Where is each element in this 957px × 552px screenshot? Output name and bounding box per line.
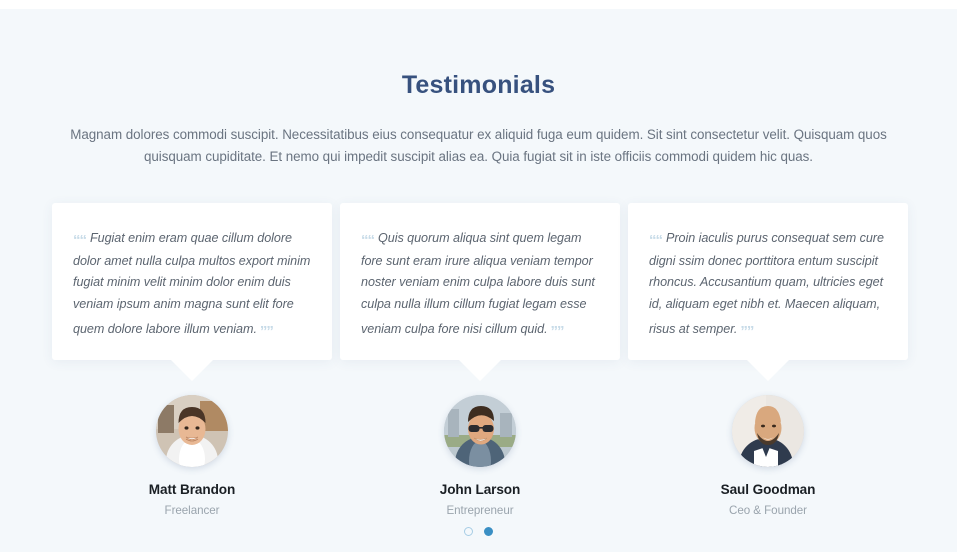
- quote-close-icon: ””: [551, 323, 564, 340]
- pagination-dot-1[interactable]: [464, 527, 473, 536]
- quote-open-icon: ““: [73, 232, 86, 249]
- quote-close-icon: ””: [740, 323, 753, 340]
- avatar: [732, 395, 804, 467]
- page-root: Testimonials Magnam dolores commodi susc…: [0, 0, 957, 552]
- testimonial-quote: ““Quis quorum aliqua sint quem legam for…: [361, 225, 599, 342]
- testimonial-item: ““Quis quorum aliqua sint quem legam for…: [340, 203, 620, 517]
- carousel-pagination[interactable]: [0, 527, 957, 536]
- testimonial-quote-box: ““Fugiat enim eram quae cillum dolore do…: [52, 203, 332, 360]
- testimonials-section: Testimonials Magnam dolores commodi susc…: [0, 9, 957, 552]
- testimonial-quote-text: Fugiat enim eram quae cillum dolore dolo…: [73, 231, 310, 336]
- testimonial-quote-text: Quis quorum aliqua sint quem legam fore …: [361, 231, 595, 336]
- quote-open-icon: ““: [361, 232, 374, 249]
- person-name: John Larson: [440, 482, 520, 497]
- avatar: [444, 395, 516, 467]
- testimonial-quote-box: ““Proin iaculis purus consequat sem cure…: [628, 203, 908, 360]
- avatar: [156, 395, 228, 467]
- pagination-dot-2[interactable]: [484, 527, 493, 536]
- person-role: Freelancer: [165, 504, 220, 517]
- testimonial-quote: ““Proin iaculis purus consequat sem cure…: [649, 225, 887, 342]
- quote-close-icon: ””: [260, 323, 273, 340]
- person-role: Entrepreneur: [446, 504, 513, 517]
- testimonial-quote: ““Fugiat enim eram quae cillum dolore do…: [73, 225, 311, 342]
- testimonials-list: ““Fugiat enim eram quae cillum dolore do…: [52, 203, 908, 517]
- testimonial-quote-text: Proin iaculis purus consequat sem cure d…: [649, 231, 884, 336]
- person-role: Ceo & Founder: [729, 504, 807, 517]
- person-name: Saul Goodman: [721, 482, 816, 497]
- testimonial-quote-box: ““Quis quorum aliqua sint quem legam for…: [340, 203, 620, 360]
- quote-open-icon: ““: [649, 232, 662, 249]
- section-title: Testimonials: [0, 9, 957, 100]
- testimonial-item: ““Proin iaculis purus consequat sem cure…: [628, 203, 908, 517]
- person-name: Matt Brandon: [149, 482, 235, 497]
- section-description: Magnam dolores commodi suscipit. Necessi…: [56, 100, 902, 167]
- testimonial-item: ““Fugiat enim eram quae cillum dolore do…: [52, 203, 332, 517]
- top-white-strip: [0, 0, 957, 9]
